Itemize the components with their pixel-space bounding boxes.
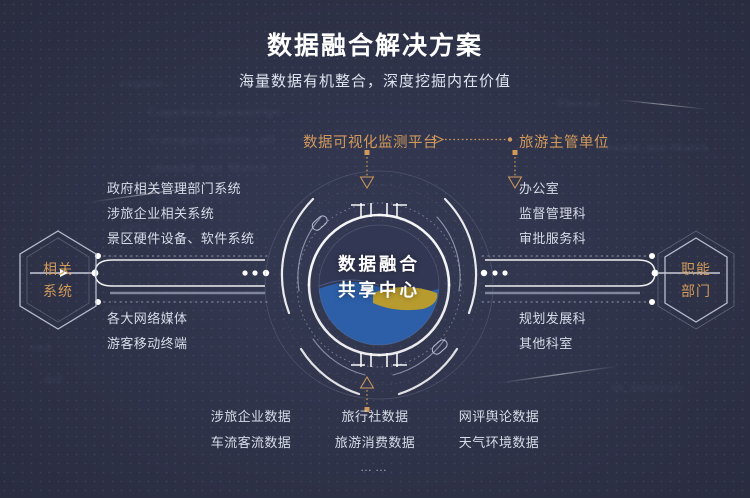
list-item: 监督管理科 <box>519 201 586 226</box>
platform-authority-connector <box>434 131 516 148</box>
hexagon-label-line2: 部门 <box>681 281 711 301</box>
list-item: 办公室 <box>519 176 586 201</box>
data-sources-row: 车流客流数据 旅游消费数据 天气环境数据 <box>0 430 750 456</box>
related-systems-hexagon[interactable]: 相关 系统 <box>14 228 102 332</box>
list-item: 政府相关管理部门系统 <box>107 176 254 201</box>
list-item: 旅游消费数据 <box>332 430 418 456</box>
hexagon-label: 相关 系统 <box>14 228 102 332</box>
list-item: 游客移动终端 <box>107 331 187 356</box>
page-title: 数据融合解决方案 <box>0 26 750 62</box>
tourism-authority-label: 旅游主管单位 <box>519 131 609 152</box>
list-item: 旅行社数据 <box>332 404 418 430</box>
data-sources-row: 涉旅企业数据 旅行社数据 网评舆论数据 <box>0 404 750 430</box>
infographic-canvas: Capybara.javascript Category.delete_all … <box>0 0 750 498</box>
list-item: 天气环境数据 <box>456 430 542 456</box>
functional-departments-hexagon[interactable]: 职能 部门 <box>652 228 740 332</box>
hexagon-label-line1: 相关 <box>43 259 73 279</box>
center-title-line2: 共享中心 <box>255 277 503 303</box>
left-top-source-list: 政府相关管理部门系统 涉旅企业相关系统 景区硬件设备、软件系统 <box>107 176 254 251</box>
list-item: 涉旅企业数据 <box>208 404 294 430</box>
list-item: 景区硬件设备、软件系统 <box>107 226 254 251</box>
hexagon-label-line1: 职能 <box>681 259 711 279</box>
hexagon-label-line2: 系统 <box>43 281 73 301</box>
list-item: 车流客流数据 <box>208 430 294 456</box>
list-item: 各大网络媒体 <box>107 306 187 331</box>
right-top-department-list: 办公室 监督管理科 审批服务科 <box>519 176 586 251</box>
list-item: 涉旅企业相关系统 <box>107 201 254 226</box>
hexagon-label: 职能 部门 <box>652 228 740 332</box>
visualization-platform-label: 数据可视化监测平台 <box>303 131 438 152</box>
data-fusion-center: 数据融合 共享中心 <box>255 163 503 407</box>
list-item: 审批服务科 <box>519 226 586 251</box>
page-subtitle: 海量数据有机整合，深度挖掘内在价值 <box>0 70 750 91</box>
data-sources-section: 涉旅企业数据 旅行社数据 网评舆论数据 车流客流数据 旅游消费数据 天气环境数据… <box>0 404 750 474</box>
list-item: 网评舆论数据 <box>456 404 542 430</box>
right-bottom-department-list: 规划发展科 其他科室 <box>519 306 586 356</box>
center-title-line1: 数据融合 <box>255 251 503 277</box>
center-title: 数据融合 共享中心 <box>255 251 503 303</box>
list-item: 规划发展科 <box>519 306 586 331</box>
ellipsis-indicator: …… <box>0 460 750 474</box>
list-item: 其他科室 <box>519 331 586 356</box>
left-bottom-source-list: 各大网络媒体 游客移动终端 <box>107 306 187 356</box>
